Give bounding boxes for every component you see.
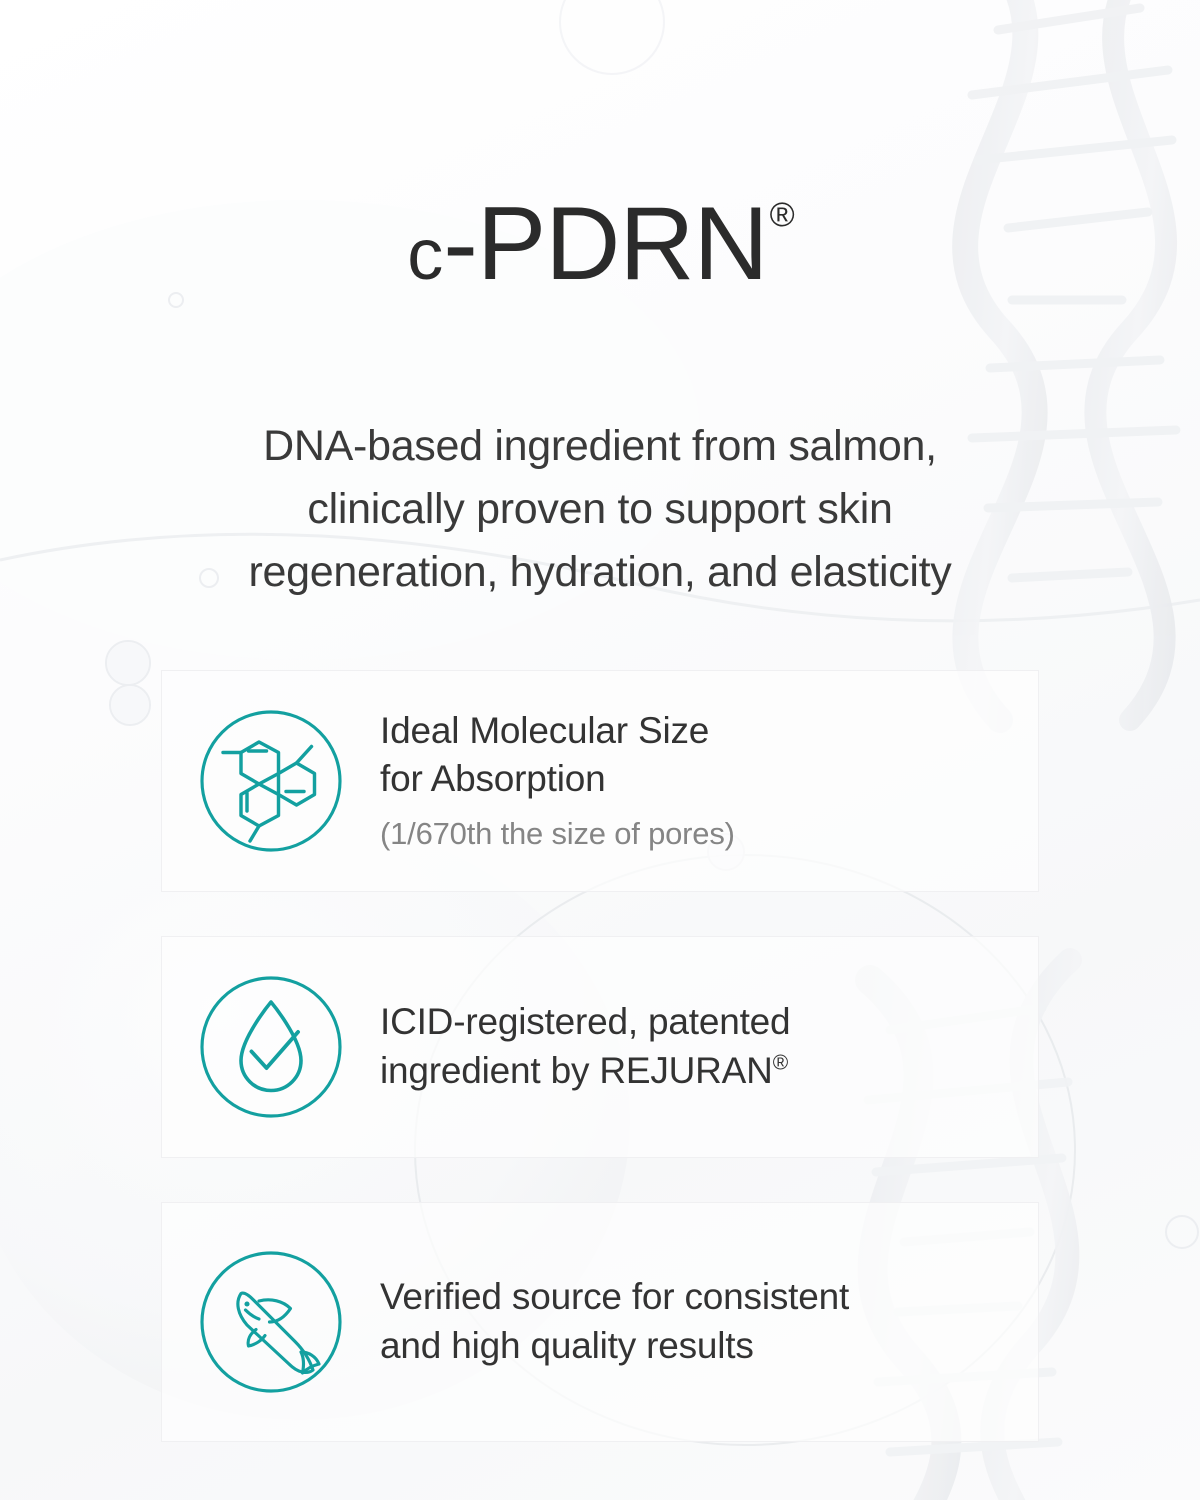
page-title: c-PDRN® (407, 192, 792, 296)
molecule-icon (196, 706, 346, 856)
feature-card-title-line: Verified source for consistent (380, 1273, 1014, 1322)
feature-card-title-line: for Absorption (380, 755, 1014, 804)
feature-card-text: Verified source for consistent and high … (380, 1273, 1038, 1371)
bubble-small-1 (106, 641, 150, 685)
fish-icon (196, 1247, 346, 1397)
feature-card-title-line: ICID-registered, patented (380, 998, 1014, 1047)
feature-card-molecular-size: Ideal Molecular Size for Absorption (1/6… (161, 670, 1039, 892)
feature-card-verified-source: Verified source for consistent and high … (161, 1202, 1039, 1442)
feature-card-title: Ideal Molecular Size for Absorption (380, 707, 1014, 805)
feature-icon-wrap (162, 1247, 380, 1397)
feature-card-title-line: Ideal Molecular Size (380, 707, 1014, 756)
feature-card-text: ICID-registered, patented ingredient by … (380, 998, 1038, 1096)
feature-card-title-line: ingredient by REJURAN® (380, 1047, 1014, 1096)
registered-trademark-icon: ® (770, 196, 795, 234)
subtitle-line: clinically proven to support skin (150, 478, 1050, 541)
feature-icon-wrap (162, 706, 380, 856)
bubble-small-4 (1166, 1216, 1198, 1248)
feature-card-title: ICID-registered, patented ingredient by … (380, 998, 1014, 1096)
subtitle-line: regeneration, hydration, and elasticity (150, 541, 1050, 604)
feature-card-icid-registered: ICID-registered, patented ingredient by … (161, 936, 1039, 1158)
brand-lead-letter: c (407, 215, 443, 295)
feature-card-list: Ideal Molecular Size for Absorption (1/6… (161, 604, 1039, 1442)
feature-card-title-line: and high quality results (380, 1322, 1014, 1371)
feature-icon-wrap (162, 972, 380, 1122)
feature-card-text: Ideal Molecular Size for Absorption (1/6… (380, 707, 1038, 855)
promo-page: c-PDRN® DNA-based ingredient from salmon… (0, 0, 1200, 1500)
registered-trademark-icon: ® (773, 1051, 788, 1074)
feature-card-title: Verified source for consistent and high … (380, 1273, 1014, 1371)
feature-card-title-text: ingredient by REJURAN (380, 1050, 773, 1091)
water-drop-check-icon (196, 972, 346, 1122)
header: c-PDRN® DNA-based ingredient from salmon… (0, 0, 1200, 604)
feature-card-subtext: (1/670th the size of pores) (380, 804, 1014, 854)
subtitle-line: DNA-based ingredient from salmon, (150, 415, 1050, 478)
brand-main-text: -PDRN (443, 186, 767, 302)
subtitle: DNA-based ingredient from salmon, clinic… (150, 365, 1050, 603)
bubble-small-2 (110, 685, 150, 725)
